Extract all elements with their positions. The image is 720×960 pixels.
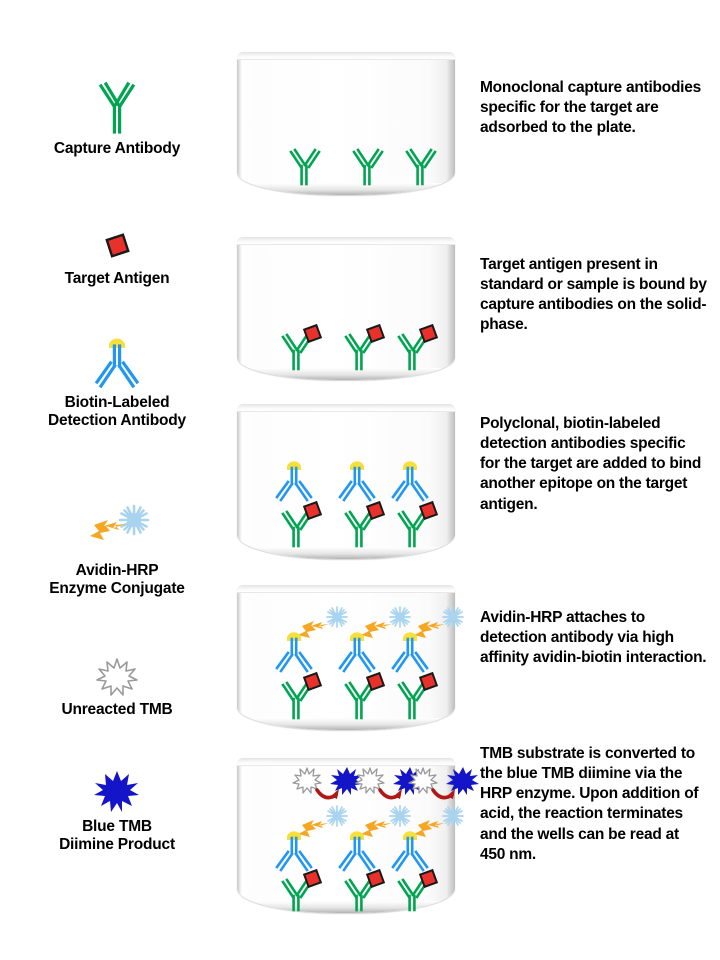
well-contents [237, 585, 455, 730]
biotin-detection-antibody-icon [2, 330, 232, 394]
complex-group [399, 325, 437, 369]
complex-group [277, 461, 321, 546]
biotin-tag [287, 831, 301, 840]
well-contents [237, 52, 455, 195]
target-antigen [367, 673, 384, 690]
target-antigen [420, 325, 437, 342]
capture-antibody [291, 150, 319, 184]
avidin-hrp-conjugate [361, 607, 410, 638]
elisa-diagram: Capture Antibody Target Antigen Biotin-L… [0, 0, 720, 960]
legend-label: Target Antigen [2, 270, 232, 288]
step-description-2: Target antigen present in standard or sa… [480, 255, 708, 336]
blue-tmb-diimine [446, 767, 479, 795]
biotin-tag [403, 831, 417, 840]
target-antigen [304, 870, 321, 887]
legend-label: Biotin-Labeled Detection Antibody [2, 394, 232, 431]
biotin-tag [350, 632, 364, 641]
legend-item-unreacted-tmb: Unreacted TMB [2, 655, 232, 719]
legend-label: Blue TMB Diimine Product [2, 818, 232, 855]
target-antigen [304, 673, 321, 690]
legend-label: Avidin-HRP Enzyme Conjugate [2, 562, 232, 599]
target-antigen [304, 502, 321, 519]
biotin-tag [287, 461, 301, 470]
target-antigen [304, 325, 321, 342]
avidin-hrp-conjugate [414, 607, 463, 638]
step-description-5: TMB substrate is converted to the blue T… [480, 744, 708, 865]
legend-item-blue-tmb-diimine: Blue TMB Diimine Product [2, 768, 232, 855]
target-antigen [420, 502, 437, 519]
target-antigen [367, 870, 384, 887]
biotin-tag [287, 632, 301, 641]
biotin-tag [350, 831, 364, 840]
step-description-3: Polyclonal, biotin-labeled detection ant… [480, 414, 708, 515]
well-step-5 [237, 758, 455, 913]
step-description-4: Avidin-HRP attaches to detection antibod… [480, 608, 708, 668]
well-step-3 [237, 404, 455, 559]
legend-label: Unreacted TMB [2, 701, 232, 719]
complex-group [346, 325, 384, 369]
complex-group [340, 461, 384, 546]
well-step-1 [237, 52, 455, 195]
complex-group [291, 150, 435, 184]
complex-group [283, 325, 321, 369]
avidin-hrp-conjugate [361, 806, 410, 837]
complex-group [277, 607, 347, 718]
well-step-4 [237, 585, 455, 730]
capture-antibody-icon [2, 78, 232, 140]
capture-antibody [407, 150, 435, 184]
target-antigen [420, 673, 437, 690]
blue-tmb-diimine [330, 767, 363, 795]
target-antigen-icon [2, 228, 232, 270]
avidin-hrp-conjugate [298, 607, 347, 638]
well-step-2 [237, 237, 455, 380]
legend-item-biotin-detection-antibody: Biotin-Labeled Detection Antibody [2, 330, 232, 431]
target-antigen [420, 870, 437, 887]
target-antigen [367, 502, 384, 519]
biotin-tag [350, 461, 364, 470]
avidin-hrp-conjugate-icon [2, 500, 232, 562]
target-antigen [367, 325, 384, 342]
biotin-tag [403, 632, 417, 641]
capture-antibody [354, 150, 382, 184]
unreacted-tmb-icon [2, 655, 232, 701]
avidin-hrp-conjugate [414, 806, 463, 837]
legend-label: Capture Antibody [2, 140, 232, 158]
complex-group [340, 607, 410, 718]
legend-item-target-antigen: Target Antigen [2, 228, 232, 288]
step-description-1: Monoclonal capture antibodies specific f… [480, 78, 708, 138]
legend-item-avidin-hrp-conjugate: Avidin-HRP Enzyme Conjugate [2, 500, 232, 599]
avidin-hrp-conjugate [298, 806, 347, 837]
well-contents [237, 404, 455, 559]
well-contents [237, 237, 455, 380]
complex-group [393, 461, 437, 546]
blue-tmb-diimine-icon [2, 768, 232, 818]
well-contents [237, 758, 455, 913]
biotin-tag [403, 461, 417, 470]
legend-item-capture-antibody: Capture Antibody [2, 78, 232, 158]
